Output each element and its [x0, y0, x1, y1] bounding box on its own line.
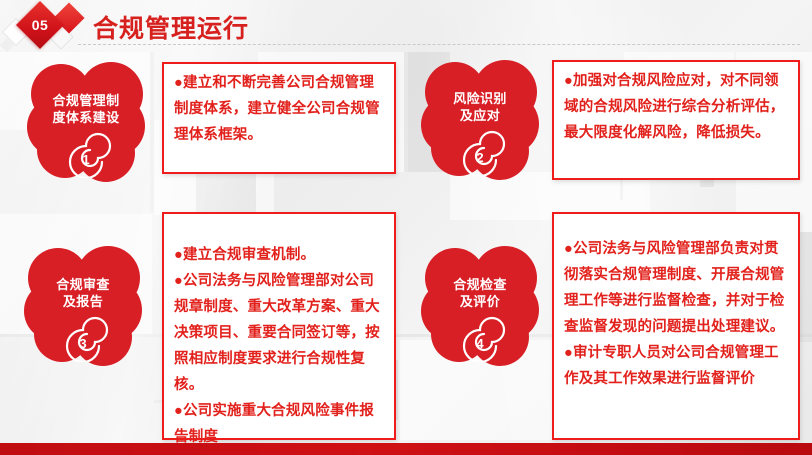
badge-label-line1: 合规检查 [421, 276, 539, 293]
card-paragraph: ●建立和不断完善公司合规管理制度体系，建立健全公司合规管理体系框架。 [174, 70, 384, 148]
badge-item-4: 合规检查 及评价 4 [421, 246, 539, 368]
header-divider [78, 44, 800, 45]
content-card-4: ●公司法务与风险管理部负责对贯彻落实合规管理制度、开展合规管理工作等进行监督检查… [552, 212, 800, 440]
badge-item-2: 风险识别 及应对 2 [421, 60, 539, 182]
badge-number-3: 3 [55, 316, 111, 362]
card-paragraph: ●公司法务与风险管理部对公司规章制度、重大改革方案、重大决策项目、重要合同签订等… [174, 268, 384, 398]
badge-label-1: 合规管理制 度体系建设 [27, 92, 145, 126]
card-paragraph: ●加强对合规风险应对，对不同领域的合规风险进行综合分析评估，最大限度化解风险，降… [564, 68, 788, 146]
badge-number-2: 2 [452, 130, 508, 176]
card-paragraph: ●公司法务与风险管理部负责对贯彻落实合规管理制度、开展合规管理工作等进行监督检查… [564, 236, 788, 340]
badge-label-line1: 风险识别 [421, 90, 539, 107]
badge-label-line2: 及报告 [24, 293, 142, 310]
section-number-label: 05 [23, 8, 57, 42]
card-text-1: ●建立和不断完善公司合规管理制度体系，建立健全公司合规管理体系框架。 [164, 64, 394, 148]
badge-label-line2: 及应对 [421, 107, 539, 124]
badge-label-line2: 及评价 [421, 293, 539, 310]
badge-label-line2: 度体系建设 [27, 109, 145, 126]
card-text-2: ●加强对合规风险应对，对不同领域的合规风险进行综合分析评估，最大限度化解风险，降… [554, 62, 798, 146]
badge-number-1: 1 [58, 132, 114, 178]
badge-label-2: 风险识别 及应对 [421, 90, 539, 124]
slide-header: 05 合规管理运行 [0, 0, 812, 52]
footer-bar [0, 443, 812, 455]
badge-number-4: 4 [452, 316, 508, 362]
page-title: 合规管理运行 [93, 9, 249, 45]
badge-label-line1: 合规管理制 [27, 92, 145, 109]
badge-label-4: 合规检查 及评价 [421, 276, 539, 310]
card-text-3: ●建立合规审查机制。 ●公司法务与风险管理部对公司规章制度、重大改革方案、重大决… [164, 214, 394, 450]
content-card-1: ●建立和不断完善公司合规管理制度体系，建立健全公司合规管理体系框架。 [162, 62, 396, 174]
badge-item-1: 合规管理制 度体系建设 1 [27, 62, 145, 184]
card-paragraph: ●建立合规审查机制。 [174, 242, 384, 268]
content-card-2: ●加强对合规风险应对，对不同领域的合规风险进行综合分析评估，最大限度化解风险，降… [552, 60, 800, 180]
slide-canvas: 05 合规管理运行 合规管理制 度体系建设 1 ●建立和不断完善公司合规管理制度… [0, 0, 812, 455]
badge-item-3: 合规审查 及报告 3 [24, 246, 142, 368]
content-card-3: ●建立合规审查机制。 ●公司法务与风险管理部对公司规章制度、重大改革方案、重大决… [162, 212, 396, 440]
badge-label-line1: 合规审查 [24, 276, 142, 293]
card-paragraph: ●审计专职人员对公司合规管理工作及其工作效果进行监督评价 [564, 340, 788, 392]
badge-label-3: 合规审查 及报告 [24, 276, 142, 310]
card-text-4: ●公司法务与风险管理部负责对贯彻落实合规管理制度、开展合规管理工作等进行监督检查… [554, 214, 798, 392]
